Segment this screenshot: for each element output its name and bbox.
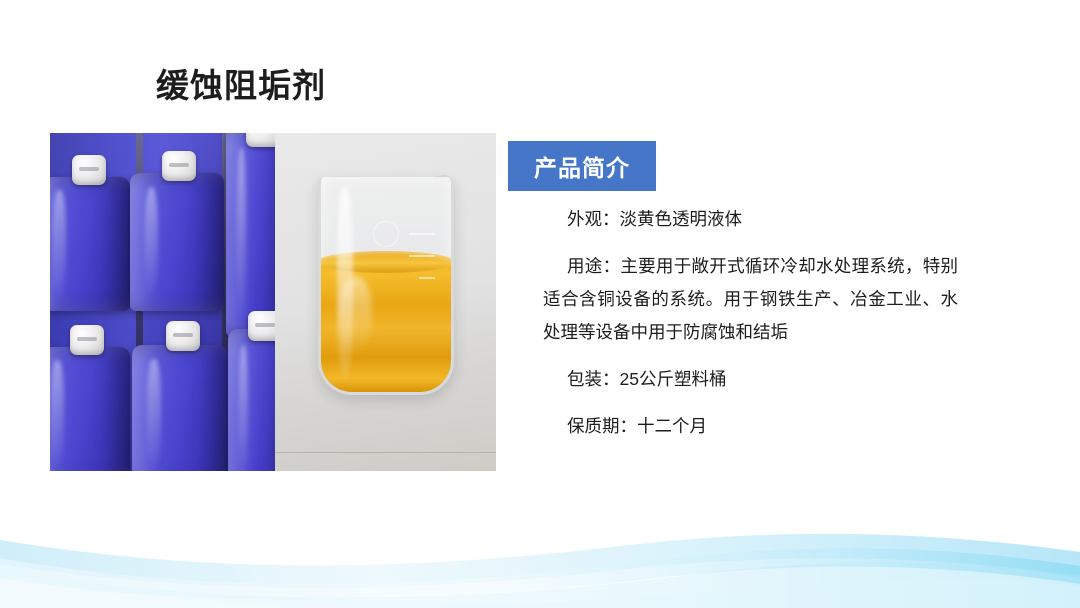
page-title: 缓蚀阻垢剂: [156, 64, 326, 108]
product-spec-list: 外观：淡黄色透明液体 用途：主要用于敞开式循环冷却水处理系统，特别适合含铜设备的…: [543, 203, 958, 443]
slide-canvas: 缓蚀阻垢剂: [0, 0, 1080, 608]
product-photo-strip: [50, 133, 496, 471]
spec-packaging: 包装：25公斤塑料桶: [543, 363, 958, 396]
beaker-brand-logo: [373, 221, 399, 247]
section-banner-label: 产品简介: [534, 149, 630, 183]
glass-beaker: [318, 177, 454, 395]
spec-shelf-life: 保质期：十二个月: [543, 410, 958, 443]
section-banner: 产品简介: [508, 141, 656, 191]
spec-appearance: 外观：淡黄色透明液体: [543, 203, 958, 236]
blue-plastic-jerrycans-photo: [50, 133, 275, 471]
spec-usage: 用途：主要用于敞开式循环冷却水处理系统，特别适合含铜设备的系统。用于钢铁生产、冶…: [543, 250, 958, 349]
bottom-wave-decoration: [0, 518, 1080, 608]
amber-liquid-beaker-photo: [275, 133, 496, 471]
